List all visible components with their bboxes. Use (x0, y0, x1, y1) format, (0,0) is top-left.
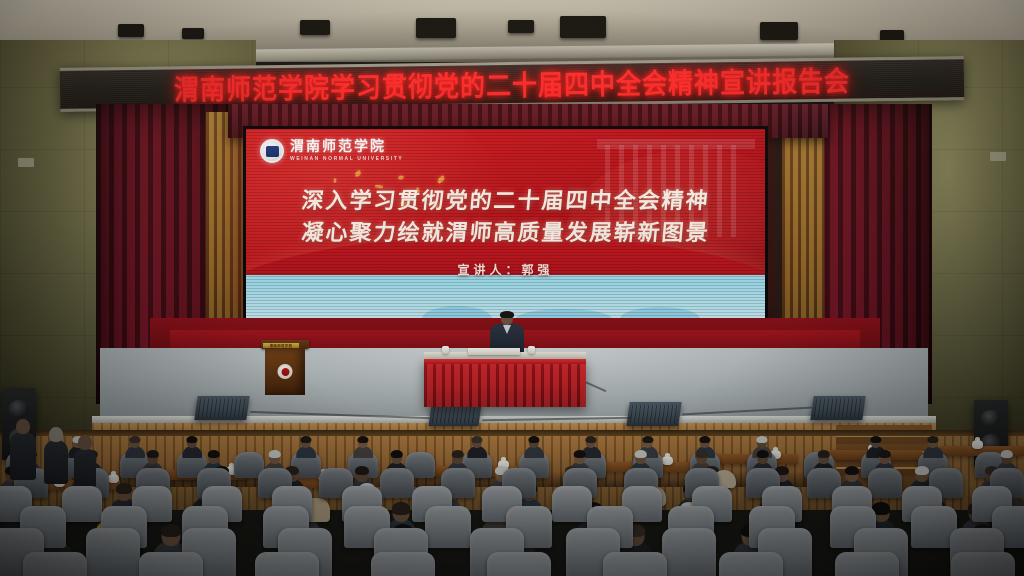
audience-hair (300, 436, 311, 444)
podium-plate-text: 渭南师范学院 (270, 343, 293, 348)
screen-title-line-2: 凝心聚力绘就渭师高质量发展崭新图景 (246, 218, 765, 250)
podium-top-surface: 渭南师范学院 (261, 340, 309, 349)
audience-hair (116, 483, 132, 494)
spotlight-fixture (560, 16, 606, 38)
stage-monitor-wedge (626, 402, 681, 426)
audience-seat (255, 552, 319, 576)
audience-member (182, 437, 202, 457)
audience-seat (662, 528, 716, 576)
petal-decor (436, 175, 445, 184)
audience-hair (756, 450, 768, 459)
audience-hair (870, 436, 881, 444)
audience-hair (878, 450, 890, 459)
audience-hair (471, 436, 482, 444)
stage-monitor-wedge (194, 396, 249, 420)
audience-seat (951, 552, 1015, 576)
audience-head (49, 427, 63, 442)
stage-monitor-wedge (810, 396, 865, 420)
audience-hair (573, 450, 585, 459)
audience-hair (268, 450, 280, 459)
teacup (442, 346, 449, 354)
audience-hair (642, 436, 653, 444)
audience-seat (487, 552, 551, 576)
teapot (108, 474, 119, 483)
screen-speaker-label: 宣讲人：郭强 (246, 261, 765, 278)
university-seal-icon (278, 364, 293, 379)
spotlight-fixture (416, 18, 456, 38)
petal-decor (333, 178, 338, 183)
led-screen-surface: 渭南师范学院 WEINAN NORMAL UNIVERSITY 深入学习贯彻党的… (246, 129, 765, 319)
audience-hair (817, 450, 829, 459)
audience-member (467, 437, 487, 457)
audience-hair (1000, 450, 1012, 459)
teapot (662, 456, 673, 465)
audience-member (353, 437, 373, 457)
spotlight-fixture (508, 20, 534, 33)
audience-seat (380, 468, 414, 498)
screen-title-block: 深入学习贯彻党的二十届四中全会精神 凝心聚力绘就渭师高质量发展崭新图景 宣讲人：… (246, 186, 765, 278)
audience-seat (835, 552, 899, 576)
led-display-screen: 渭南师范学院 WEINAN NORMAL UNIVERSITY 深入学习贯彻党的… (243, 126, 768, 322)
audience-hair (186, 436, 197, 444)
audience-hair (161, 524, 181, 538)
university-name-cn: 渭南师范学院 (290, 140, 403, 154)
audience-seat (371, 552, 435, 576)
audience-seat (86, 528, 140, 576)
table-skirt-hem (424, 359, 586, 364)
university-logo: 渭南师范学院 WEINAN NORMAL UNIVERSITY (260, 139, 403, 163)
audience-hair (392, 502, 410, 514)
wall-switch-plate (990, 152, 1006, 161)
audience-seat (719, 552, 783, 576)
audience-hair (634, 450, 646, 459)
audience-hair (390, 450, 402, 459)
audience-member-side (74, 448, 96, 488)
teacup (528, 346, 535, 354)
audience-hair (699, 436, 710, 444)
audience-hair (129, 436, 140, 444)
petal-decor (354, 170, 361, 177)
audience-head (16, 419, 30, 434)
spotlight-fixture (118, 24, 144, 37)
petal-decor (398, 174, 404, 180)
podium-nameplate: 渭南师范学院 (263, 343, 299, 348)
audience-seat (23, 552, 87, 576)
screen-title-line-1: 深入学习贯彻党的二十届四中全会精神 (246, 186, 765, 218)
crest-inner-shield (266, 146, 279, 157)
university-name-en: WEINAN NORMAL UNIVERSITY (290, 157, 403, 162)
stage-monitor-wedge (428, 404, 481, 426)
audience-member-side (10, 432, 36, 480)
audience-hair (357, 436, 368, 444)
table-items (450, 346, 560, 355)
audience-member (923, 437, 943, 457)
lectern-podium: 渭南师范学院 (265, 340, 305, 395)
audience-hair (756, 436, 767, 444)
spotlight-fixture (300, 20, 330, 35)
audience-member (296, 437, 316, 457)
audience-seat (603, 552, 667, 576)
audience-hair (146, 450, 158, 459)
audience-hair (845, 466, 859, 476)
wall-switch-plate (18, 158, 34, 167)
audience-hair (451, 450, 463, 459)
audience-head (78, 435, 92, 450)
auditorium-scene: 渭南师范学院学习贯彻党的二十届四中全会精神宣讲报告会 (0, 0, 1024, 576)
audience-member-side (44, 440, 68, 484)
teapot (972, 440, 983, 449)
audience-member (524, 437, 544, 457)
table-nameplate (468, 348, 520, 355)
audience-hair (355, 466, 369, 476)
audience-hair (585, 436, 596, 444)
spotlight-fixture (760, 22, 798, 40)
audience-hair (695, 450, 707, 459)
spotlight-fixture (182, 28, 204, 39)
house-wall-trim (0, 430, 1024, 436)
banner-text: 渭南师范学院学习贯彻党的二十届四中全会精神宣讲报告会 (174, 59, 850, 108)
audience-seat (62, 486, 102, 522)
audience-hair (207, 450, 219, 459)
podium-body (265, 349, 305, 395)
audience-seat (139, 552, 203, 576)
audience-hair (927, 436, 938, 444)
audience-seat (425, 506, 471, 548)
table-skirt (424, 359, 586, 407)
audience-seat (868, 468, 902, 498)
university-logo-text: 渭南师范学院 WEINAN NORMAL UNIVERSITY (290, 140, 403, 162)
audience-hair (915, 466, 929, 476)
university-crest-icon (260, 139, 284, 163)
audience-hair (528, 436, 539, 444)
speaker-hair (500, 311, 514, 318)
